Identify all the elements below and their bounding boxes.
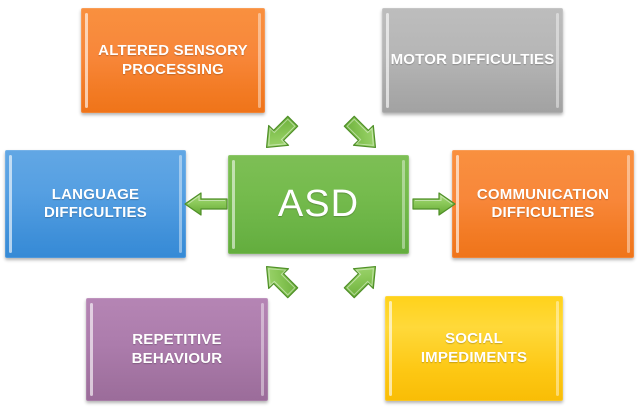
node-motor-difficulties[interactable]: MOTOR DIFFICULTIES bbox=[382, 8, 563, 113]
node-altered-sensory-processing[interactable]: ALTERED SENSORY PROCESSING bbox=[81, 8, 265, 113]
node-label-communication-difficulties: COMMUNICATION DIFFICULTIES bbox=[460, 186, 626, 223]
arrow-down-left-icon bbox=[258, 258, 302, 302]
arrow-right-icon bbox=[411, 189, 457, 219]
node-asd-center[interactable]: ASD bbox=[228, 155, 409, 254]
arrow-left-icon bbox=[183, 189, 229, 219]
node-label-altered-sensory-processing: ALTERED SENSORY PROCESSING bbox=[89, 42, 257, 79]
arrow-down-right-icon bbox=[340, 258, 384, 302]
node-label-asd-center: ASD bbox=[236, 181, 401, 227]
node-label-social-impediments: SOCIAL IMPEDIMENTS bbox=[393, 330, 555, 367]
node-label-repetitive-behaviour: REPETITIVE BEHAVIOUR bbox=[94, 331, 260, 368]
arrow-up-left-icon bbox=[258, 112, 302, 156]
node-communication-difficulties[interactable]: COMMUNICATION DIFFICULTIES bbox=[452, 150, 634, 258]
node-repetitive-behaviour[interactable]: REPETITIVE BEHAVIOUR bbox=[86, 298, 268, 401]
asd-concept-diagram: ALTERED SENSORY PROCESSING MOTOR DIFFICU… bbox=[0, 0, 638, 412]
arrow-up-right-icon bbox=[340, 112, 384, 156]
node-label-language-difficulties: LANGUAGE DIFFICULTIES bbox=[13, 186, 178, 223]
node-social-impediments[interactable]: SOCIAL IMPEDIMENTS bbox=[385, 296, 563, 401]
node-label-motor-difficulties: MOTOR DIFFICULTIES bbox=[390, 51, 555, 69]
node-language-difficulties[interactable]: LANGUAGE DIFFICULTIES bbox=[5, 150, 186, 258]
